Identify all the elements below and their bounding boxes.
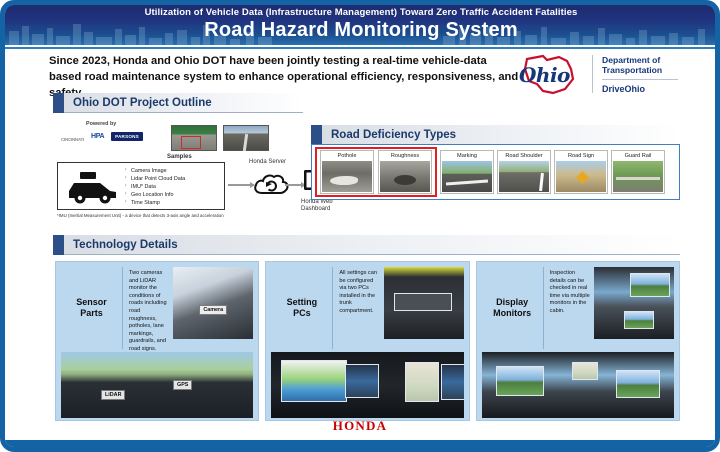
honda-wordmark: HONDA [333,418,387,433]
imu-footnote: *IMU (Inertial Measurement Unit) - a dev… [57,213,224,218]
section-tick [53,93,64,113]
deficiency-label: Roughness [391,152,419,161]
section-tick [53,235,64,255]
technology-card-display-monitors: Display Monitors Inspection details can … [476,261,680,421]
honda-web-dashboard-label: Honda Web Dashboard [301,199,345,213]
department-line-2: Transportation [602,65,678,75]
lower-monitor-screen [624,311,654,329]
card-top-row: Setting PCs All settings can be configur… [271,267,463,349]
ohio-dot-logo: Ohio Department of Transportation DriveO… [517,49,697,99]
pothole-thumbnail [322,161,372,192]
marking-thumbnail [442,161,492,192]
highlighted-deficiency-group: Pothole Roughness [315,147,437,197]
card-title-line-2: PCs [293,308,311,318]
card-description-setting-pcs: All settings can be configured via two P… [333,267,383,349]
deficiency-card-road-shoulder[interactable]: Road Shoulder [497,150,551,194]
deficiency-label: Pothole [338,152,357,161]
section-header-project-outline: Ohio DOT Project Outline [53,93,303,113]
road-deficiency-panel: Pothole Roughness Marking Road Shoulder … [311,144,680,200]
header-subtitle: Utilization of Vehicle Data (Infrastruct… [3,7,719,18]
rear-monitor-left [496,366,544,396]
section-tick [311,125,322,145]
card-title-sensor-parts: Sensor Parts [61,267,123,349]
hpa-logo: HPA [91,133,104,140]
deficiency-label: Road Sign [568,152,594,161]
technology-card-sensor-parts: Sensor Parts Two cameras and LiDAR monit… [55,261,259,421]
lidar-tag: LiDAR [101,390,125,400]
secondary-screen [345,364,379,398]
technology-card-setting-pcs: Setting PCs All settings can be configur… [265,261,469,421]
section-header-deficiency-types: Road Deficiency Types [311,125,680,145]
map-screen [405,362,439,402]
sample-image-road [223,125,269,151]
sample-image-detection [171,125,217,151]
samples-label: Samples [167,154,192,160]
card-description-sensor-parts: Two cameras and LiDAR monitor the condit… [123,267,173,349]
project-outline-diagram: Powered by CINCINNATI HPA PARSONS Sample… [53,121,303,225]
list-item: Time Stamp [124,199,185,207]
deficiency-card-row: Pothole Roughness Marking Road Shoulder … [312,145,679,199]
deficiency-card-marking[interactable]: Marking [440,150,494,194]
guard-rail-thumbnail [613,161,663,192]
card-title-setting-pcs: Setting PCs [271,267,333,349]
list-item: Camera Image [124,167,185,175]
card-description-display-monitors: Inspection details can be checked in rea… [544,267,594,349]
page-header: Utilization of Vehicle Data (Infrastruct… [3,3,719,45]
lidar-view-screen [281,360,347,402]
odot-text-block: Department of Transportation DriveOhio [602,55,678,94]
rear-monitor-right [616,370,660,398]
card-title-line-1: Setting [287,297,318,307]
header-rule [3,47,719,49]
logo-divider [592,55,593,93]
vehicle-data-box: Camera Image Lidar Point Cloud Data IMU*… [57,162,225,210]
powered-by-label: Powered by [86,121,116,127]
list-item: Lidar Point Cloud Data [124,175,185,183]
data-screen [441,364,463,400]
footer-bar [3,440,719,449]
deficiency-card-roughness[interactable]: Roughness [378,150,432,194]
road-sign-thumbnail [556,161,606,192]
gps-tag: GPS [173,380,192,390]
deficiency-card-road-sign[interactable]: Road Sign [554,150,608,194]
data-item-list: Camera Image Lidar Point Cloud Data IMU*… [124,167,185,207]
section-title-technology: Technology Details [73,239,178,251]
camera-tag: Camera [199,305,227,315]
trunk-rack-detail [394,293,452,311]
card-title-display-monitors: Display Monitors [482,267,544,349]
slide-page: Utilization of Vehicle Data (Infrastruct… [0,0,720,452]
card-title-line-2: Monitors [493,308,531,318]
ohio-state-outline-icon: Ohio [517,51,583,97]
card-top-row: Sensor Parts Two cameras and LiDAR monit… [61,267,253,349]
parsons-logo: PARSONS [111,132,143,141]
department-line-1: Department of [602,55,678,65]
honda-server-label: Honda Server [249,159,286,165]
page-title: Road Hazard Monitoring System [3,18,719,42]
card-top-row: Display Monitors Inspection details can … [482,267,674,349]
camera-mount-photo: Camera [173,267,253,339]
road-shoulder-thumbnail [499,161,549,192]
technology-card-row: Sensor Parts Two cameras and LiDAR monit… [55,261,680,421]
cincinnati-logo: CINCINNATI [61,131,84,142]
trunk-pcs-photo [384,267,464,339]
deficiency-label: Road Shoulder [505,152,542,161]
list-item: IMU* Data [124,183,185,191]
deficiency-label: Marking [457,152,477,161]
footer-brand: HONDA [5,417,715,435]
car-icon [66,171,120,205]
list-item: Geo Location Info [124,191,185,199]
deficiency-label: Guard Rail [625,152,652,161]
section-header-technology-details: Technology Details [53,235,680,255]
trunk-monitors-photo [271,352,463,418]
card-title-line-1: Sensor [76,297,107,307]
partner-logo-row: CINCINNATI HPA PARSONS [61,131,143,142]
vehicle-roof-sensors-photo: LiDAR GPS [61,352,253,418]
deficiency-card-guard-rail[interactable]: Guard Rail [611,150,665,194]
roughness-thumbnail [380,161,430,192]
odot-text-divider [602,79,678,80]
section-title-outline: Ohio DOT Project Outline [73,97,212,109]
cabin-multiple-monitors-photo [482,352,674,418]
center-map-monitor [572,362,598,380]
deficiency-card-pothole[interactable]: Pothole [320,150,374,194]
card-title-line-1: Display [496,297,528,307]
driveohio-label: DriveOhio [602,84,678,94]
flow-arrow-to-dashboard [285,184,305,186]
section-title-deficiency: Road Deficiency Types [331,129,456,141]
card-title-line-2: Parts [80,308,103,318]
cabin-monitor-photo [594,267,674,339]
dash-monitor-screen [630,273,670,297]
ohio-wordmark: Ohio [519,63,570,87]
